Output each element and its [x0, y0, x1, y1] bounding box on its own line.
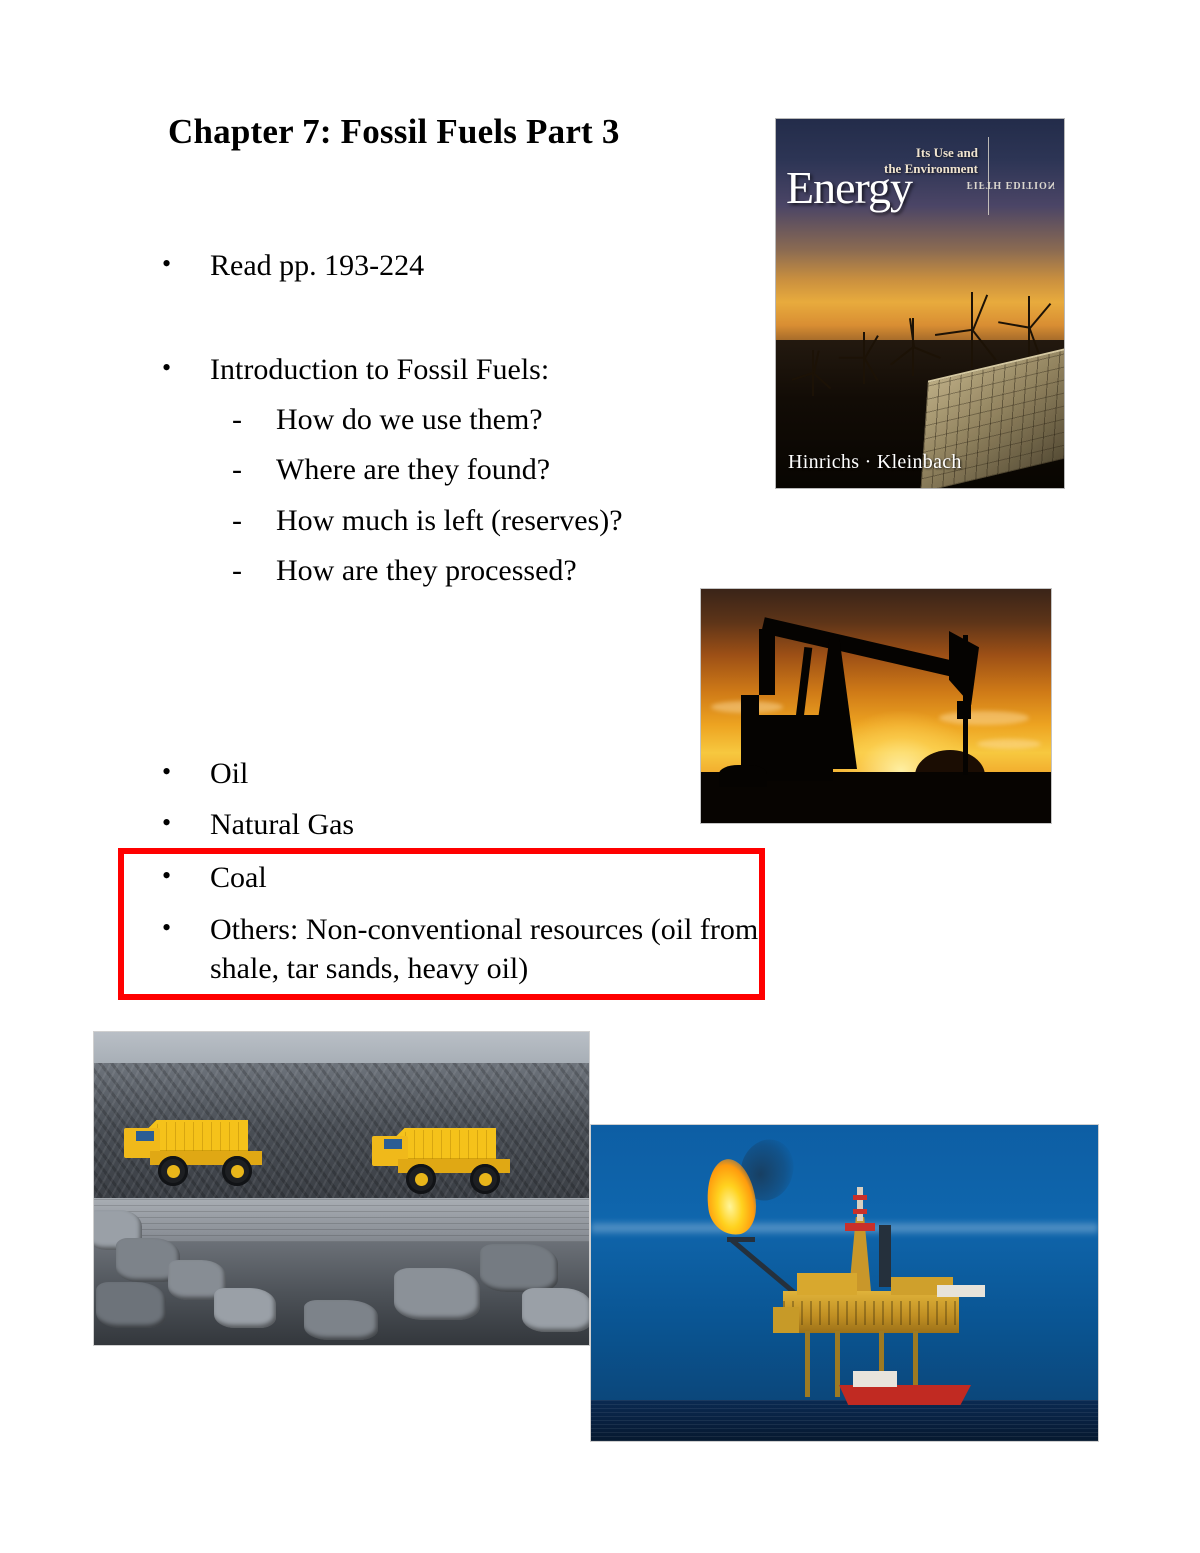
exhaust-stack: [879, 1225, 891, 1287]
bullet-icon: •: [160, 246, 210, 283]
rock-shape: [522, 1288, 590, 1332]
rock-shape: [304, 1300, 378, 1340]
cloud-shape: [939, 711, 1029, 725]
list-item-introduction: • Introduction to Fossil Fuels:: [160, 350, 700, 389]
sub-list-item-label: How do we use them?: [276, 400, 732, 439]
list-item-oil: • Oil: [160, 754, 700, 793]
dash-icon: -: [232, 551, 276, 590]
mast-band: [853, 1209, 867, 1214]
list-item-coal: • Coal: [160, 858, 700, 897]
book-edition: FIFTH EDITION: [967, 179, 1056, 190]
sub-list-item-found: - Where are they found?: [232, 450, 732, 489]
mast-band: [853, 1195, 867, 1200]
sub-list-item-label: How much is left (reserves)?: [276, 501, 752, 540]
book-authors: Hinrichs · Kleinbach: [788, 451, 962, 474]
oil-pump-jack-image: [700, 588, 1052, 824]
truck-window: [384, 1139, 402, 1149]
vessel-superstructure: [853, 1371, 897, 1387]
bullet-icon: •: [160, 910, 210, 947]
rock-shape: [480, 1244, 558, 1292]
upper-module: [797, 1273, 857, 1295]
wind-turbine-icon: [952, 292, 992, 368]
rod-clamp: [957, 701, 971, 719]
list-item-label: Read pp. 193-224: [210, 246, 700, 285]
book-title: Energy: [786, 165, 912, 211]
bridle-hanger: [759, 629, 775, 695]
slide-page: Chapter 7: Fossil Fuels Part 3 • Read pp…: [0, 0, 1200, 1553]
side-module: [773, 1307, 799, 1333]
page-title: Chapter 7: Fossil Fuels Part 3: [168, 112, 768, 152]
platform-leg: [835, 1331, 840, 1397]
sub-list-item-use: - How do we use them?: [232, 400, 732, 439]
platform-leg: [805, 1331, 810, 1397]
sub-list-item-reserves: - How much is left (reserves)?: [232, 501, 752, 540]
sub-list-item-label: How are they processed?: [276, 551, 752, 590]
sub-list-item-label: Where are they found?: [276, 450, 732, 489]
offshore-platform-image: [590, 1124, 1099, 1442]
list-item-natural-gas: • Natural Gas: [160, 805, 700, 844]
book-subtitle-line1: Its Use and: [856, 145, 978, 161]
cover-divider-rule: [988, 137, 989, 215]
list-item-label: Coal: [210, 858, 700, 897]
truck-wheel: [158, 1156, 188, 1186]
supply-vessel: [839, 1385, 971, 1405]
wind-turbine-icon: [898, 318, 928, 376]
list-item-label: Others: Non-conventional resources (oil …: [210, 910, 760, 988]
truck-wheel: [222, 1156, 252, 1186]
rock-shape: [394, 1268, 480, 1320]
bullet-icon: •: [160, 805, 210, 842]
bullet-icon: •: [160, 350, 210, 387]
cloud-shape: [977, 739, 1041, 749]
sub-list-item-processed: - How are they processed?: [232, 551, 752, 590]
truck-wheel: [470, 1164, 500, 1194]
list-item-read: • Read pp. 193-224: [160, 246, 700, 285]
sea-surface: [591, 1400, 1098, 1441]
bullet-icon: •: [160, 858, 210, 895]
wind-turbine-icon: [850, 332, 878, 384]
derrick-mast: [857, 1187, 863, 1221]
dash-icon: -: [232, 400, 276, 439]
wind-turbine-icon: [1012, 296, 1046, 360]
dash-icon: -: [232, 450, 276, 489]
list-item-label: Oil: [210, 754, 700, 793]
dash-icon: -: [232, 501, 276, 540]
energy-textbook-cover-image: Its Use and the Environment Energy FIFTH…: [775, 118, 1065, 489]
list-item-label: Introduction to Fossil Fuels:: [210, 350, 700, 389]
flare-tip: [727, 1237, 755, 1242]
coal-mine-trucks-image: [93, 1031, 590, 1346]
skid-base: [719, 765, 767, 787]
wind-turbine-icon: [800, 350, 826, 396]
rock-shape: [96, 1282, 166, 1328]
helideck: [937, 1285, 985, 1297]
rock-shape: [214, 1288, 276, 1328]
bullet-icon: •: [160, 754, 210, 791]
list-item-label: Natural Gas: [210, 805, 700, 844]
list-item-others: • Others: Non-conventional resources (oi…: [160, 910, 760, 988]
truck-window: [136, 1131, 154, 1141]
truck-wheel: [406, 1164, 436, 1194]
deck-structure-texture: [783, 1301, 959, 1325]
derrick-band: [845, 1223, 875, 1231]
